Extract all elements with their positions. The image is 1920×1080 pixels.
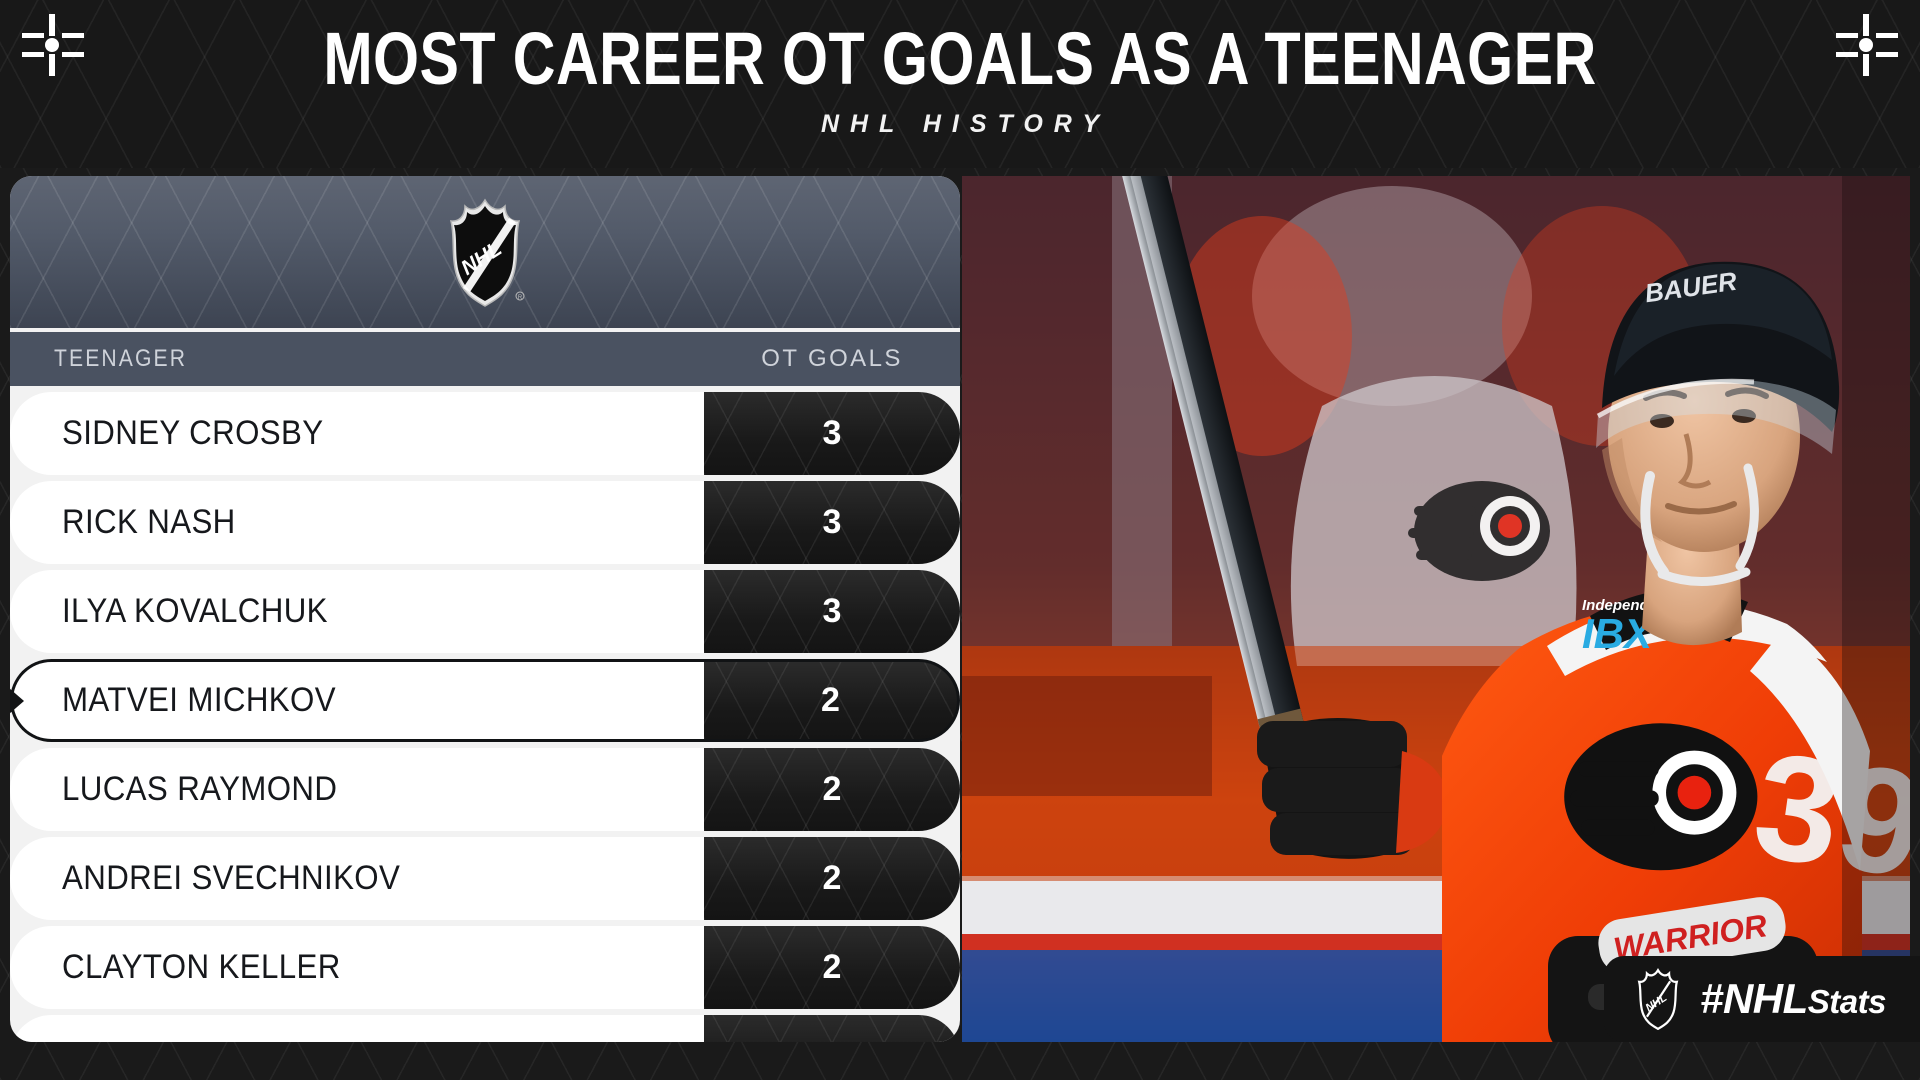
badge-word: Stats (1808, 983, 1886, 1020)
row-value-text: 3 (823, 592, 842, 631)
title-block: MOST CAREER OT GOALS AS A TEENAGER NHL H… (0, 22, 1920, 139)
row-value-text: 3 (823, 503, 842, 542)
svg-text:NHL: NHL (1644, 992, 1670, 1015)
row-player-name-text: SIDNEY CROSBY (62, 414, 323, 453)
row-player-name: CLAYTON KELLER (10, 926, 704, 1009)
row-value-text: 2 (823, 1037, 842, 1042)
row-player-name: RICK NASH (10, 481, 704, 564)
player-photo: Independence IBX ® 39 (962, 176, 1910, 1042)
row-player-name: MATVEI MICHKOV (10, 659, 704, 742)
row-value-cell: 2 (704, 926, 960, 1009)
table-row[interactable]: SIDNEY CROSBY3 (10, 392, 960, 475)
row-value-cell: 2 (704, 1015, 960, 1042)
table-row[interactable]: ANDREI SVECHNIKOV2 (10, 837, 960, 920)
highlight-arrow-icon (10, 688, 24, 714)
table-row[interactable]: MATVEI MICHKOV2 (10, 659, 960, 742)
column-header-row: TEENAGER OT GOALS (10, 332, 960, 386)
row-player-name: LUCAS RAYMOND (10, 748, 704, 831)
row-value-cell: 3 (704, 392, 960, 475)
nhlstats-badge-text: #NHLStats (1700, 975, 1886, 1023)
nhl-shield-icon: NHL R (439, 196, 531, 308)
table-row[interactable]: CLAYTON KELLER2 (10, 926, 960, 1009)
row-player-name-text: RICK NASH (62, 503, 236, 542)
column-header-value: OT GOALS (704, 345, 960, 373)
graphic-stage: MOST CAREER OT GOALS AS A TEENAGER NHL H… (0, 0, 1920, 1080)
page-title: MOST CAREER OT GOALS AS A TEENAGER (192, 22, 1728, 96)
leaderboard-panel: NHL R TEENAGER OT GOALS SIDNEY CROSBY3RI… (10, 176, 960, 1042)
page-subtitle: NHL HISTORY (0, 110, 1920, 139)
row-player-name-text: CLAYTON KELLER (62, 948, 341, 987)
row-value-cell: 2 (704, 659, 960, 742)
svg-text:R: R (518, 295, 523, 301)
row-value-text: 2 (823, 770, 842, 809)
row-value-text: 2 (823, 948, 842, 987)
header-band: MOST CAREER OT GOALS AS A TEENAGER NHL H… (0, 0, 1920, 168)
row-player-name: ILYA KOVALCHUK (10, 570, 704, 653)
row-player-name-text: CAM FOWLER (62, 1037, 278, 1042)
row-value-text: 2 (823, 859, 842, 898)
row-player-name: ANDREI SVECHNIKOV (10, 837, 704, 920)
table-row[interactable]: RICK NASH3 (10, 481, 960, 564)
nhl-shield-icon-badge: NHL (1632, 968, 1684, 1030)
row-player-name-text: ILYA KOVALCHUK (62, 592, 328, 631)
panel-logo-header: NHL R (10, 176, 960, 328)
row-value-cell: 3 (704, 481, 960, 564)
player-photo-illustration: Independence IBX ® 39 (962, 176, 1910, 1042)
row-value-cell: 2 (704, 748, 960, 831)
nhlstats-badge: NHL #NHLStats (1604, 956, 1920, 1042)
row-value-text: 2 (821, 681, 840, 720)
row-player-name-text: ANDREI SVECHNIKOV (62, 859, 400, 898)
row-value-text: 3 (823, 414, 842, 453)
column-header-name: TEENAGER (10, 345, 621, 373)
table-row[interactable]: ILYA KOVALCHUK3 (10, 570, 960, 653)
row-player-name: SIDNEY CROSBY (10, 392, 704, 475)
row-player-name: CAM FOWLER (10, 1015, 704, 1042)
row-value-cell: 2 (704, 837, 960, 920)
leaderboard-rows: SIDNEY CROSBY3RICK NASH3ILYA KOVALCHUK3M… (10, 386, 960, 1042)
table-row[interactable]: LUCAS RAYMOND2 (10, 748, 960, 831)
row-value-cell: 3 (704, 570, 960, 653)
row-player-name-text: LUCAS RAYMOND (62, 770, 337, 809)
table-row[interactable]: CAM FOWLER2 (10, 1015, 960, 1042)
row-player-name-text: MATVEI MICHKOV (62, 681, 336, 720)
badge-hashtag: #NHL (1700, 975, 1808, 1022)
